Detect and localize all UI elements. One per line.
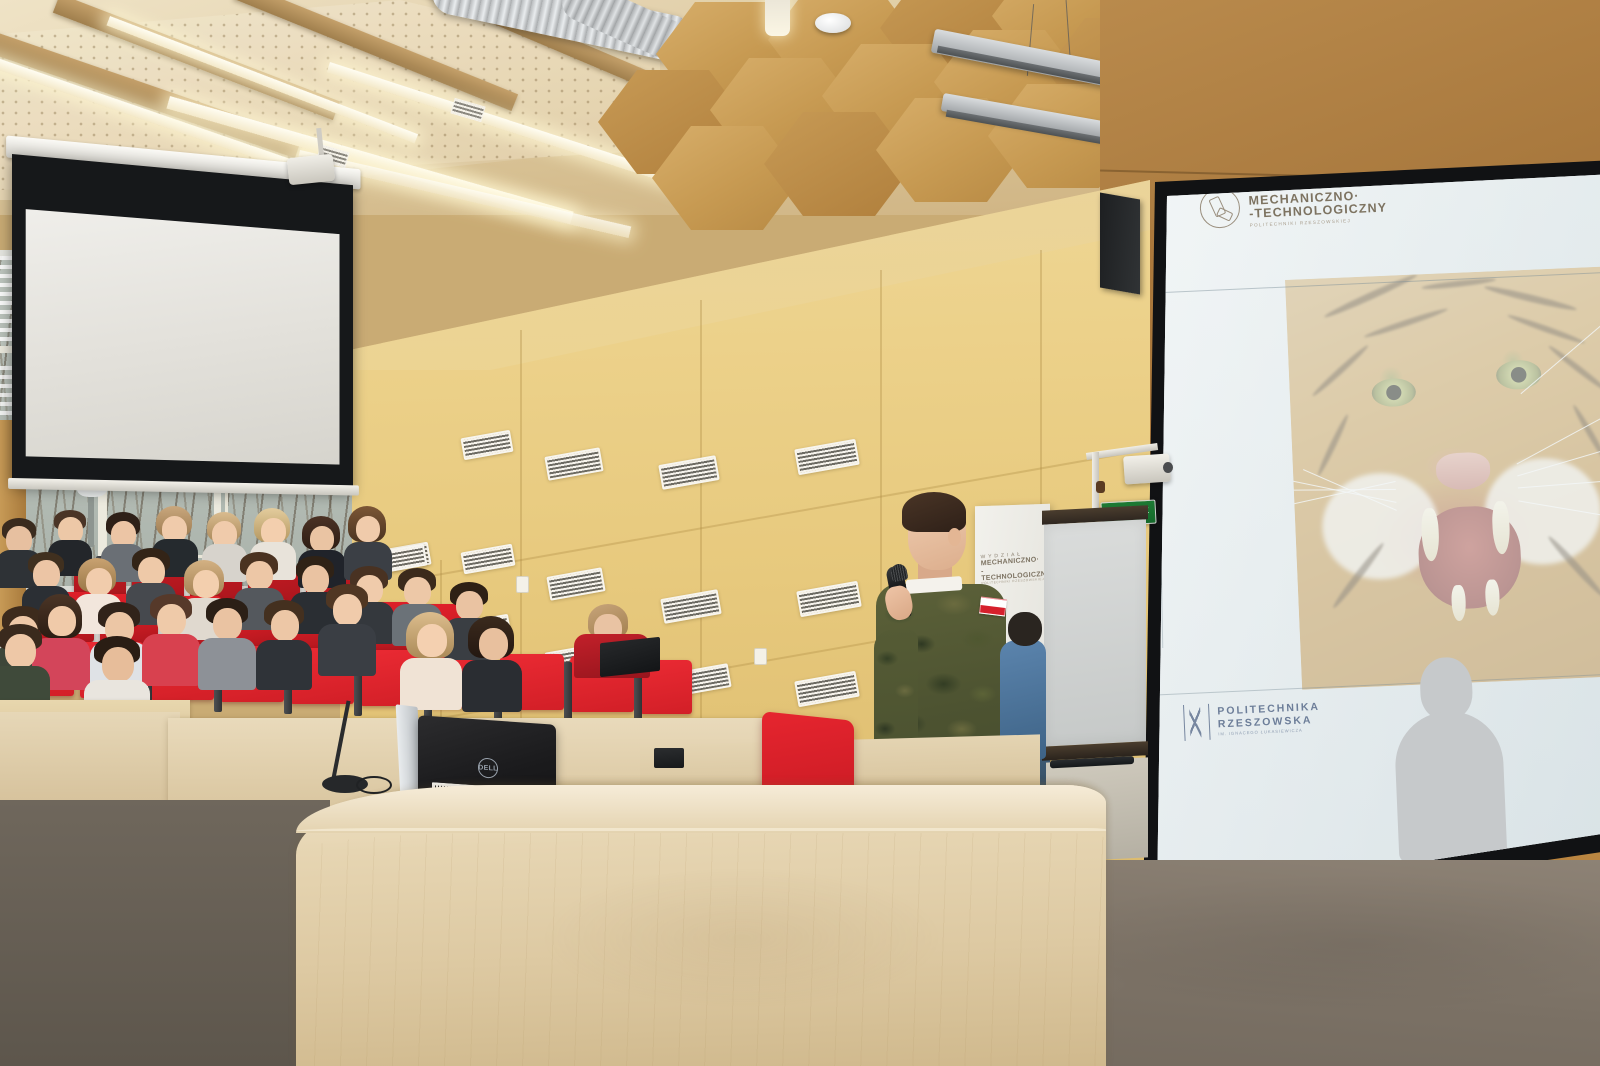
desk-monitor-stand-clip (654, 748, 684, 768)
slide-tiger-photo (1285, 266, 1600, 690)
cylindrical-ceiling-lamp (765, 0, 790, 36)
silhouette-body (1393, 709, 1507, 860)
left-projection-screen[interactable] (12, 148, 353, 495)
presentation-slide: W Y D Z I A Ł MECHANICZNO· -TECHNOLOGICZ… (1135, 160, 1600, 860)
smoke-detector-icon (815, 13, 851, 33)
microphone-head-icon (890, 563, 909, 583)
lecture-hall-photo: W Y D Z I A Ł MECHANICZNO· -TECHNOLOGICZ… (0, 0, 1600, 1066)
wall-socket[interactable] (516, 576, 529, 593)
screen-surface-blank (26, 209, 340, 464)
whiteboard (1042, 505, 1148, 771)
lectern-desk-surface (296, 785, 1106, 833)
tiger-fang (1451, 584, 1466, 621)
tiger-eye (1496, 360, 1541, 391)
tiger-fang (1485, 579, 1500, 616)
polish-flag-patch (979, 596, 1007, 616)
tiger-nose (1435, 452, 1491, 491)
seated-person-head (1008, 612, 1042, 646)
presenter-hair (902, 492, 966, 532)
university-mark-icon (1183, 704, 1211, 741)
lectern-edge-highlight (296, 828, 1106, 831)
pa-loudspeaker (1100, 192, 1140, 294)
projector-lens-icon (1163, 462, 1173, 473)
lectern-desk-grain (296, 833, 1106, 1066)
floor-left (0, 800, 330, 1066)
right-projection-screen[interactable]: W Y D Z I A Ł MECHANICZNO· -TECHNOLOGICZ… (1135, 160, 1600, 860)
presenter-ear (948, 528, 961, 546)
dell-logo-icon: DELL (478, 757, 498, 778)
wall-socket[interactable] (754, 648, 767, 665)
tiger-eye (1371, 377, 1416, 408)
audience-laptop[interactable] (600, 637, 660, 677)
person-silhouette-icon (1385, 655, 1513, 860)
ceiling-projector-left (287, 154, 336, 186)
university-logo: POLITECHNIKA RZESZOWSKA IM. IGNACEGO ŁUK… (1183, 699, 1321, 741)
wall-sensor-icon (1096, 481, 1105, 493)
cable-coil (356, 776, 392, 794)
tiger-image (1285, 266, 1600, 690)
whiteboard-surface (1044, 519, 1146, 746)
